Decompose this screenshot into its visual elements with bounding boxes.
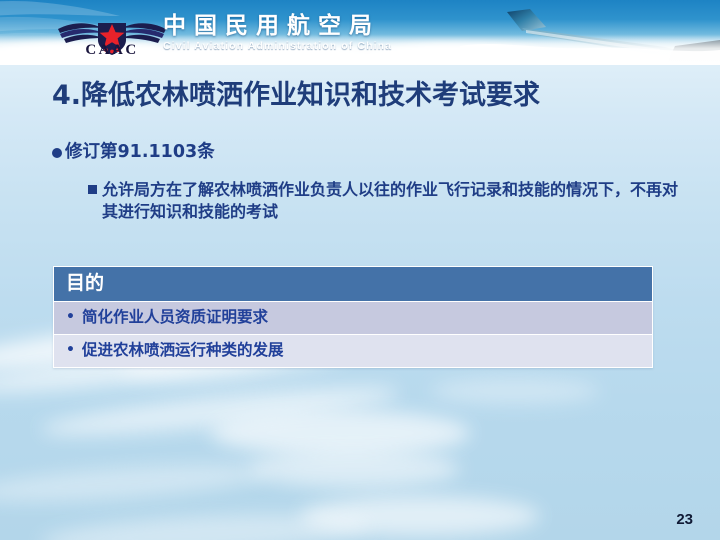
bullet-level2: 允许局方在了解农林喷洒作业负责人以往的作业飞行记录和技能的情况下，不再对其进行知…: [88, 179, 680, 223]
table-row: • 简化作业人员资质证明要求: [54, 302, 652, 335]
slide-title: 4.降低农林喷洒作业知识和技术考试要求: [52, 80, 692, 111]
circle-bullet-icon: [52, 148, 62, 158]
bullet-level1-text: 修订第91.1103条: [65, 142, 215, 164]
table-row-text: 促进农林喷洒运行种类的发展: [82, 340, 284, 361]
row-bullet-icon: •: [66, 341, 82, 360]
row-bullet-icon: •: [66, 308, 82, 327]
bullet-level1: 修订第91.1103条: [52, 142, 215, 164]
caac-emblem-label: CAAC: [56, 43, 168, 58]
org-name-cn: 中国民用航空局: [163, 14, 392, 38]
banner-title-group: 中国民用航空局 Civil Aviation Administration of…: [163, 14, 392, 52]
bullet-level2-text: 允许局方在了解农林喷洒作业负责人以往的作业飞行记录和技能的情况下，不再对其进行知…: [102, 179, 680, 223]
header-banner: CAAC 中国民用航空局 Civil Aviation Administrati…: [0, 0, 720, 65]
table-row: • 促进农林喷洒运行种类的发展: [54, 335, 652, 367]
purpose-table: 目的 • 简化作业人员资质证明要求 • 促进农林喷洒运行种类的发展: [53, 266, 653, 368]
table-row-text: 简化作业人员资质证明要求: [82, 307, 268, 328]
purpose-table-header: 目的: [54, 267, 652, 302]
square-bullet-icon: [88, 185, 97, 194]
org-name-en: Civil Aviation Administration of China: [163, 40, 392, 52]
slide: CAAC 中国民用航空局 Civil Aviation Administrati…: [0, 0, 720, 540]
page-number: 23: [676, 511, 693, 528]
